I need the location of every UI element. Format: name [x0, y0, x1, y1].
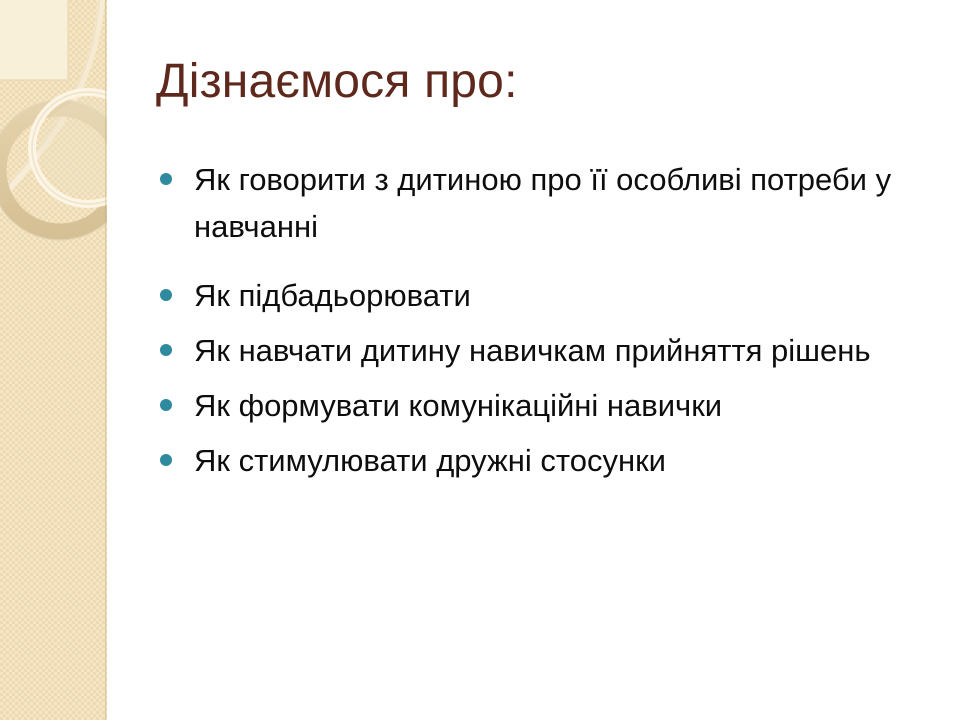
bullet-dot-icon [160, 173, 172, 185]
list-item[interactable]: Як стимулювати дружні стосунки [160, 437, 940, 484]
list-item-label: Як підбадьорювати [194, 272, 940, 319]
corner-panel-icon [0, 0, 68, 80]
sidebar-ornament-group [0, 0, 107, 720]
list-item-label: Як формувати комунікаційні навички [194, 382, 940, 429]
presentation-slide: Дізнаємося про: Як говорити з дитиною пр… [0, 0, 960, 720]
sidebar-edge-line [105, 0, 107, 720]
list-item[interactable]: Як підбадьорювати [160, 272, 940, 319]
bullet-list: Як говорити з дитиною про її особливі по… [160, 156, 940, 492]
bullet-dot-icon [160, 344, 172, 356]
list-item[interactable]: Як формувати комунікаційні навички [160, 382, 940, 429]
bullet-dot-icon [160, 454, 172, 466]
list-item-label: Як стимулювати дружні стосунки [194, 437, 940, 484]
list-item[interactable]: Як говорити з дитиною про її особливі по… [160, 156, 940, 250]
list-item-label: Як говорити з дитиною про її особливі по… [194, 156, 894, 250]
bullet-dot-icon [160, 289, 172, 301]
list-item-label: Як навчати дитину навичкам прийняття ріш… [194, 327, 894, 374]
list-item[interactable]: Як навчати дитину навичкам прийняття ріш… [160, 327, 940, 374]
decorative-sidebar [0, 0, 107, 720]
slide-title: Дізнаємося про: [156, 52, 896, 112]
bullet-dot-icon [160, 399, 172, 411]
